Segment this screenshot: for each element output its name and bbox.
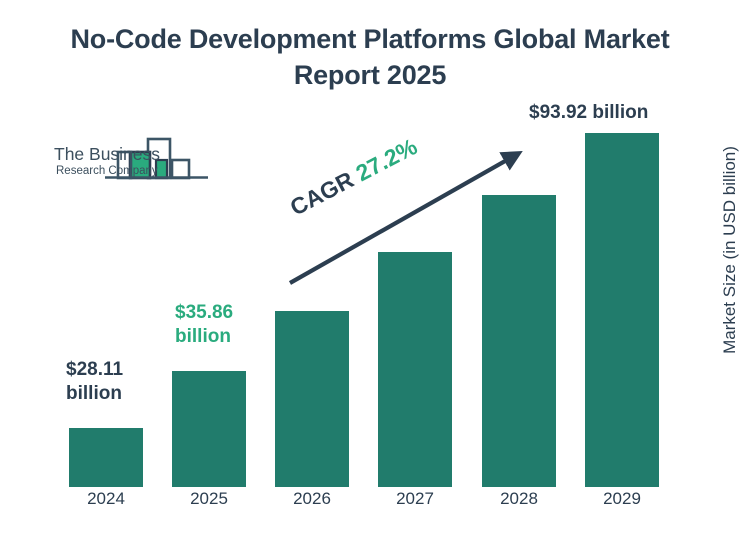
cagr-label: CAGR [286,166,358,220]
bar-2028 [482,195,556,487]
x-axis-label-2029: 2029 [570,489,674,509]
value-label-2024: $28.11 billion [66,358,123,407]
bar-2029 [585,133,659,487]
bar-2026 [275,311,349,487]
x-axis-label-2027: 2027 [363,489,467,509]
bar-2027 [378,252,452,487]
bar-chart: $28.11 billion $35.86 billion $93.92 bil… [0,0,745,538]
cagr-annotation: CAGR 27.2% [286,133,422,221]
value-label-2029: $93.92 billion [529,101,648,125]
y-axis-title: Market Size (in USD billion) [720,125,740,375]
x-axis-label-2024: 2024 [54,489,158,509]
chart-page: No-Code Development Platforms Global Mar… [0,0,745,538]
x-axis-label-2028: 2028 [467,489,571,509]
value-label-2025: $35.86 billion [175,301,233,350]
bar-2024 [69,428,143,487]
x-axis-label-2025: 2025 [157,489,261,509]
bar-2025 [172,371,246,487]
cagr-value: 27.2% [352,133,422,186]
x-axis-label-2026: 2026 [260,489,364,509]
